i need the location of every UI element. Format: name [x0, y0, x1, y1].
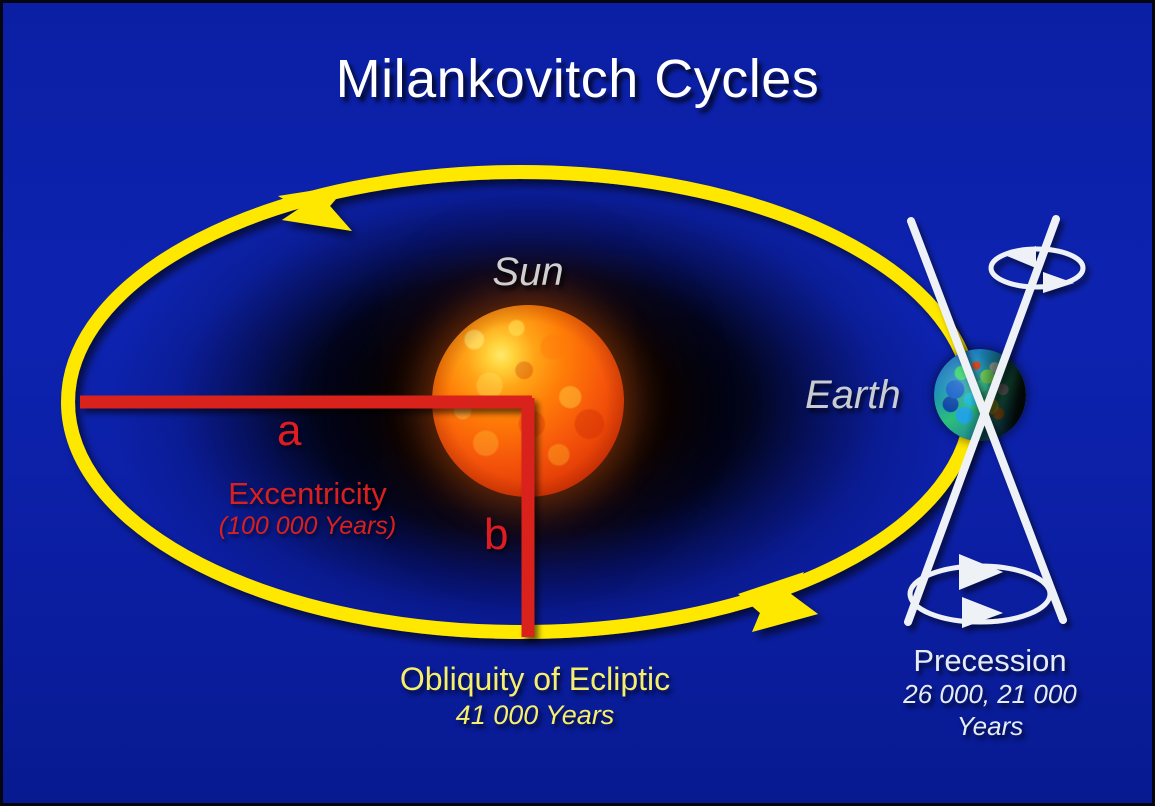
eccentricity-period: (100 000 Years) — [150, 511, 465, 541]
obliquity-title: Obliquity of Ecliptic — [335, 660, 735, 698]
precession-period: 26 000, 21 000 — [855, 678, 1125, 710]
precession-caption: Precession 26 000, 21 000 Years — [855, 643, 1125, 742]
sun-label: Sun — [0, 250, 1056, 295]
eccentricity-title: Excentricity — [150, 477, 465, 511]
semi-major-axis-label: a — [277, 406, 301, 456]
precession-arrow-bottom-upper — [959, 554, 1003, 590]
eccentricity-caption: Excentricity (100 000 Years) — [150, 477, 465, 541]
milankovitch-diagram: Milankovitch Cycles Sun Earth a b Excent… — [0, 0, 1155, 806]
page-title: Milankovitch Cycles — [0, 48, 1155, 110]
semi-minor-axis-label: b — [484, 510, 508, 560]
precession-title: Precession — [855, 643, 1125, 678]
precession-period-unit: Years — [855, 710, 1125, 742]
earth-label: Earth — [805, 373, 901, 418]
obliquity-caption: Obliquity of Ecliptic 41 000 Years — [335, 660, 735, 732]
obliquity-period: 41 000 Years — [335, 698, 735, 732]
